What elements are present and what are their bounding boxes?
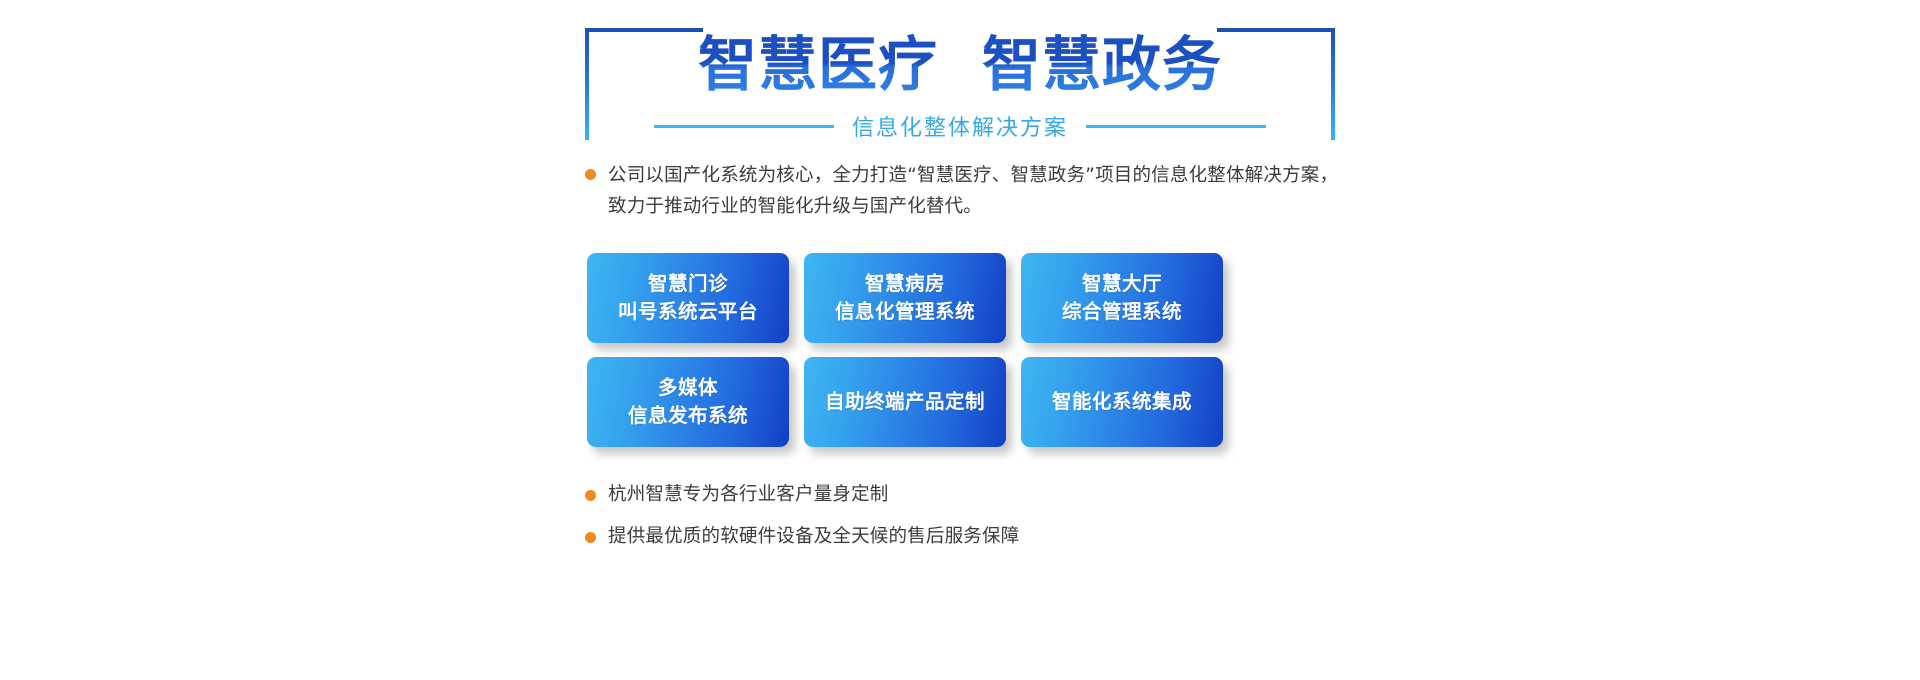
list-item: 杭州智慧专为各行业客户量身定制 [585, 481, 1345, 509]
subtitle-rule-right [1086, 125, 1266, 128]
promo-banner: 智慧医疗智慧政务 信息化整体解决方案 公司以国产化系统为核心，全力打造“智慧医疗… [0, 0, 1920, 680]
footer-bullet-text: 杭州智慧专为各行业客户量身定制 [608, 481, 889, 509]
page-title-part1: 智慧医疗 [698, 30, 938, 99]
subtitle-rule-left [654, 125, 834, 128]
bullet-dot-icon [585, 490, 596, 501]
bullet-dot-icon [585, 169, 596, 180]
footer-bullet-list: 杭州智慧专为各行业客户量身定制 提供最优质的软硬件设备及全天候的售后服务保障 [585, 481, 1345, 551]
page-subtitle: 信息化整体解决方案 [852, 110, 1068, 142]
content-area: 公司以国产化系统为核心，全力打造“智慧医疗、智慧政务”项目的信息化整体解决方案，… [585, 160, 1345, 565]
intro-paragraph: 公司以国产化系统为核心，全力打造“智慧医疗、智慧政务”项目的信息化整体解决方案，… [585, 160, 1345, 222]
solution-card-grid: 智慧门诊 叫号系统云平台 智慧病房 信息化管理系统 智慧大厅 综合管理系统 多媒… [587, 253, 1345, 447]
bullet-dot-icon [585, 532, 596, 543]
header-block: 智慧医疗智慧政务 信息化整体解决方案 [585, 28, 1335, 143]
solution-card[interactable]: 智慧门诊 叫号系统云平台 [587, 253, 789, 343]
intro-paragraph-text: 公司以国产化系统为核心，全力打造“智慧医疗、智慧政务”项目的信息化整体解决方案，… [608, 160, 1345, 222]
solution-card[interactable]: 多媒体 信息发布系统 [587, 357, 789, 447]
solution-card[interactable]: 智慧大厅 综合管理系统 [1021, 253, 1223, 343]
solution-card[interactable]: 智能化系统集成 [1021, 357, 1223, 447]
footer-bullet-text: 提供最优质的软硬件设备及全天候的售后服务保障 [608, 523, 1019, 551]
page-title: 智慧医疗智慧政务 [585, 26, 1335, 104]
solution-card[interactable]: 自助终端产品定制 [804, 357, 1006, 447]
list-item: 提供最优质的软硬件设备及全天候的售后服务保障 [585, 523, 1345, 551]
page-title-part2: 智慧政务 [982, 30, 1222, 99]
subtitle-row: 信息化整体解决方案 [585, 110, 1335, 142]
solution-card[interactable]: 智慧病房 信息化管理系统 [804, 253, 1006, 343]
